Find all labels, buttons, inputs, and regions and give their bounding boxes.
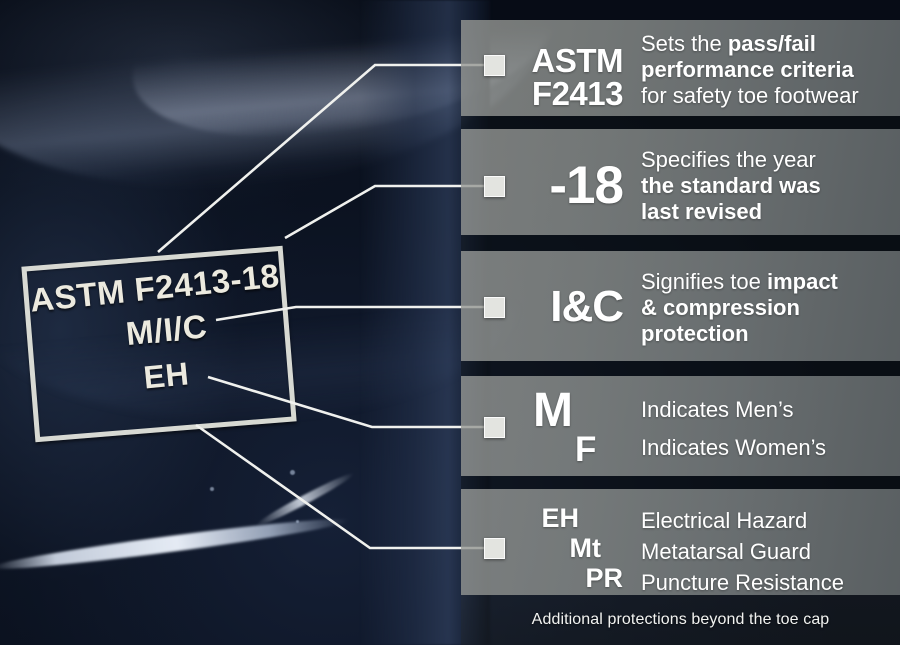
panel-divider [461, 235, 900, 251]
code-mens-marking: M [519, 391, 629, 431]
code-metatarsal-guard: Mt [519, 533, 623, 563]
description-text-bold: last revised [641, 199, 762, 224]
description-line-3: for safety toe footwear [641, 83, 859, 109]
description-line-2: & compression [641, 295, 838, 321]
description-line-2: the standard was [641, 173, 821, 199]
code-label-gender-marking: M F [519, 391, 629, 469]
connector-square-icon-row-4 [484, 417, 505, 438]
code-label-astm-f2413: ASTM F2413 [519, 44, 623, 110]
code-label-year-18: -18 [519, 159, 623, 212]
description-line-3: protection [641, 321, 838, 347]
description-line-1: Sets the pass/fail [641, 31, 859, 57]
description-text-bold: performance criteria [641, 57, 854, 82]
description-astm-f2413: Sets the pass/fail performance criteria … [641, 31, 859, 109]
footnote-text: Additional protections beyond the toe ca… [461, 595, 900, 645]
connector-square-icon-row-3 [484, 297, 505, 318]
code-electrical-hazard: EH [519, 503, 623, 533]
description-line-1: Electrical Hazard [641, 505, 844, 536]
description-text-bold: protection [641, 321, 749, 346]
infographic-canvas: ASTM F2413-18 M/I/C EH ASTM F2413 [0, 0, 900, 645]
code-label-impact-compression: I&C [519, 285, 623, 329]
description-additional-protections: Electrical Hazard Metatarsal Guard Punct… [641, 505, 844, 598]
description-line-1: Specifies the year [641, 147, 821, 173]
code-puncture-resistance: PR [519, 563, 623, 593]
panel-divider [461, 476, 900, 489]
description-year-18: Specifies the year the standard was last… [641, 147, 821, 225]
description-gender-marking: Indicates Men’s Indicates Women’s [641, 391, 826, 467]
description-line-3: last revised [641, 199, 821, 225]
description-text-bold: impact [767, 269, 838, 294]
connector-square-icon-row-5 [484, 538, 505, 559]
panel-divider [461, 116, 900, 129]
description-text-bold: the standard was [641, 173, 821, 198]
description-text-plain: Sets the [641, 31, 728, 56]
description-text-bold: & compression [641, 295, 800, 320]
info-panel-stack: ASTM F2413 Sets the pass/fail performanc… [0, 0, 900, 645]
description-line-2: performance criteria [641, 57, 859, 83]
description-line-2: Indicates Women’s [641, 429, 826, 467]
description-line-1: Indicates Men’s [641, 391, 826, 429]
code-line-2: F2413 [519, 77, 623, 110]
connector-square-icon-row-2 [484, 176, 505, 197]
description-text-bold: pass/fail [728, 31, 816, 56]
description-line-1: Signifies toe impact [641, 269, 838, 295]
description-impact-compression: Signifies toe impact & compression prote… [641, 269, 838, 347]
code-label-additional-protections: EH Mt PR [519, 503, 623, 593]
connector-square-icon-row-1 [484, 55, 505, 76]
panel-divider [461, 361, 900, 376]
description-line-2: Metatarsal Guard [641, 536, 844, 567]
description-text-plain: Signifies toe [641, 269, 767, 294]
code-line-1: ASTM [519, 44, 623, 77]
description-line-3: Puncture Resistance [641, 567, 844, 598]
